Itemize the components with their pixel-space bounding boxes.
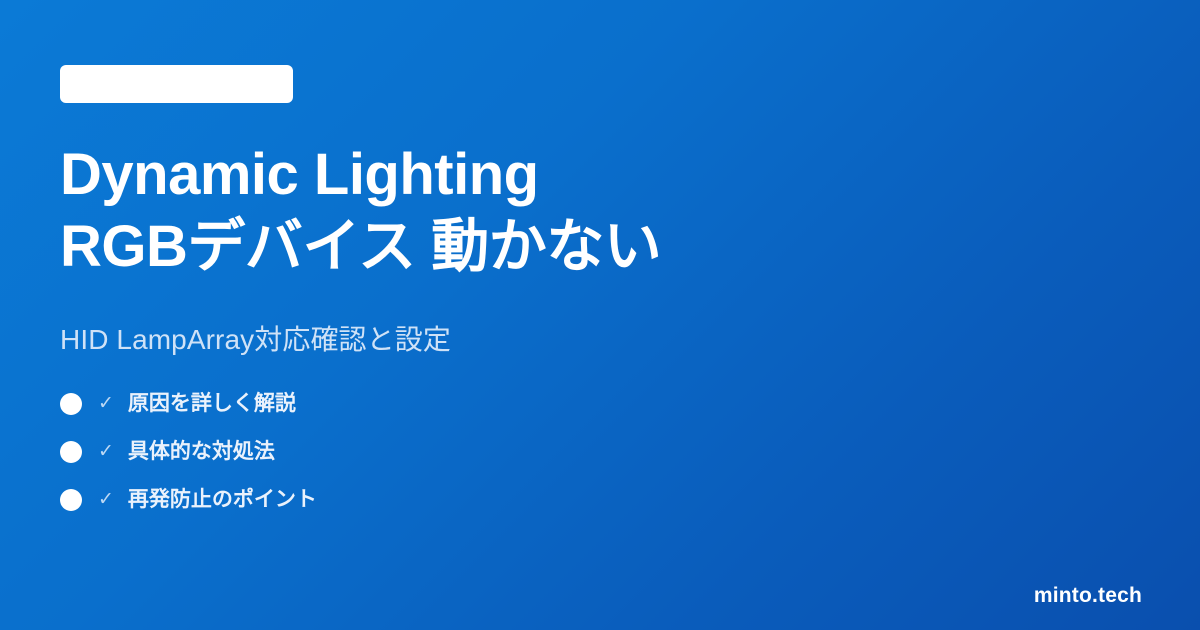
bullet-dot-icon <box>60 489 82 511</box>
list-item-label: 再発防止のポイント <box>128 489 317 510</box>
feature-list: ✓ 原因を詳しく解説 ✓ 具体的な対処法 ✓ 再発防止のポイント <box>60 388 1140 516</box>
card-content: Dynamic Lighting RGBデバイス 動かない HID LampAr… <box>60 65 1140 516</box>
list-item: ✓ 原因を詳しく解説 <box>60 388 1140 420</box>
page-title-line-2: RGBデバイス 動かない <box>60 211 1140 283</box>
brand-footer: minto.tech <box>1034 584 1142 608</box>
check-icon: ✓ <box>98 442 114 461</box>
list-item-label: 原因を詳しく解説 <box>128 393 296 414</box>
check-icon: ✓ <box>98 394 114 413</box>
list-item: ✓ 具体的な対処法 <box>60 436 1140 468</box>
category-badge <box>60 65 293 103</box>
promo-card: Dynamic Lighting RGBデバイス 動かない HID LampAr… <box>0 0 1200 630</box>
page-title: Dynamic Lighting RGBデバイス 動かない <box>60 139 1140 283</box>
list-item-label: 具体的な対処法 <box>128 441 275 462</box>
page-title-line-1: Dynamic Lighting <box>60 139 1140 211</box>
bullet-dot-icon <box>60 393 82 415</box>
bullet-dot-icon <box>60 441 82 463</box>
page-subtitle: HID LampArray対応確認と設定 <box>60 322 1140 358</box>
list-item: ✓ 再発防止のポイント <box>60 484 1140 516</box>
check-icon: ✓ <box>98 490 114 509</box>
